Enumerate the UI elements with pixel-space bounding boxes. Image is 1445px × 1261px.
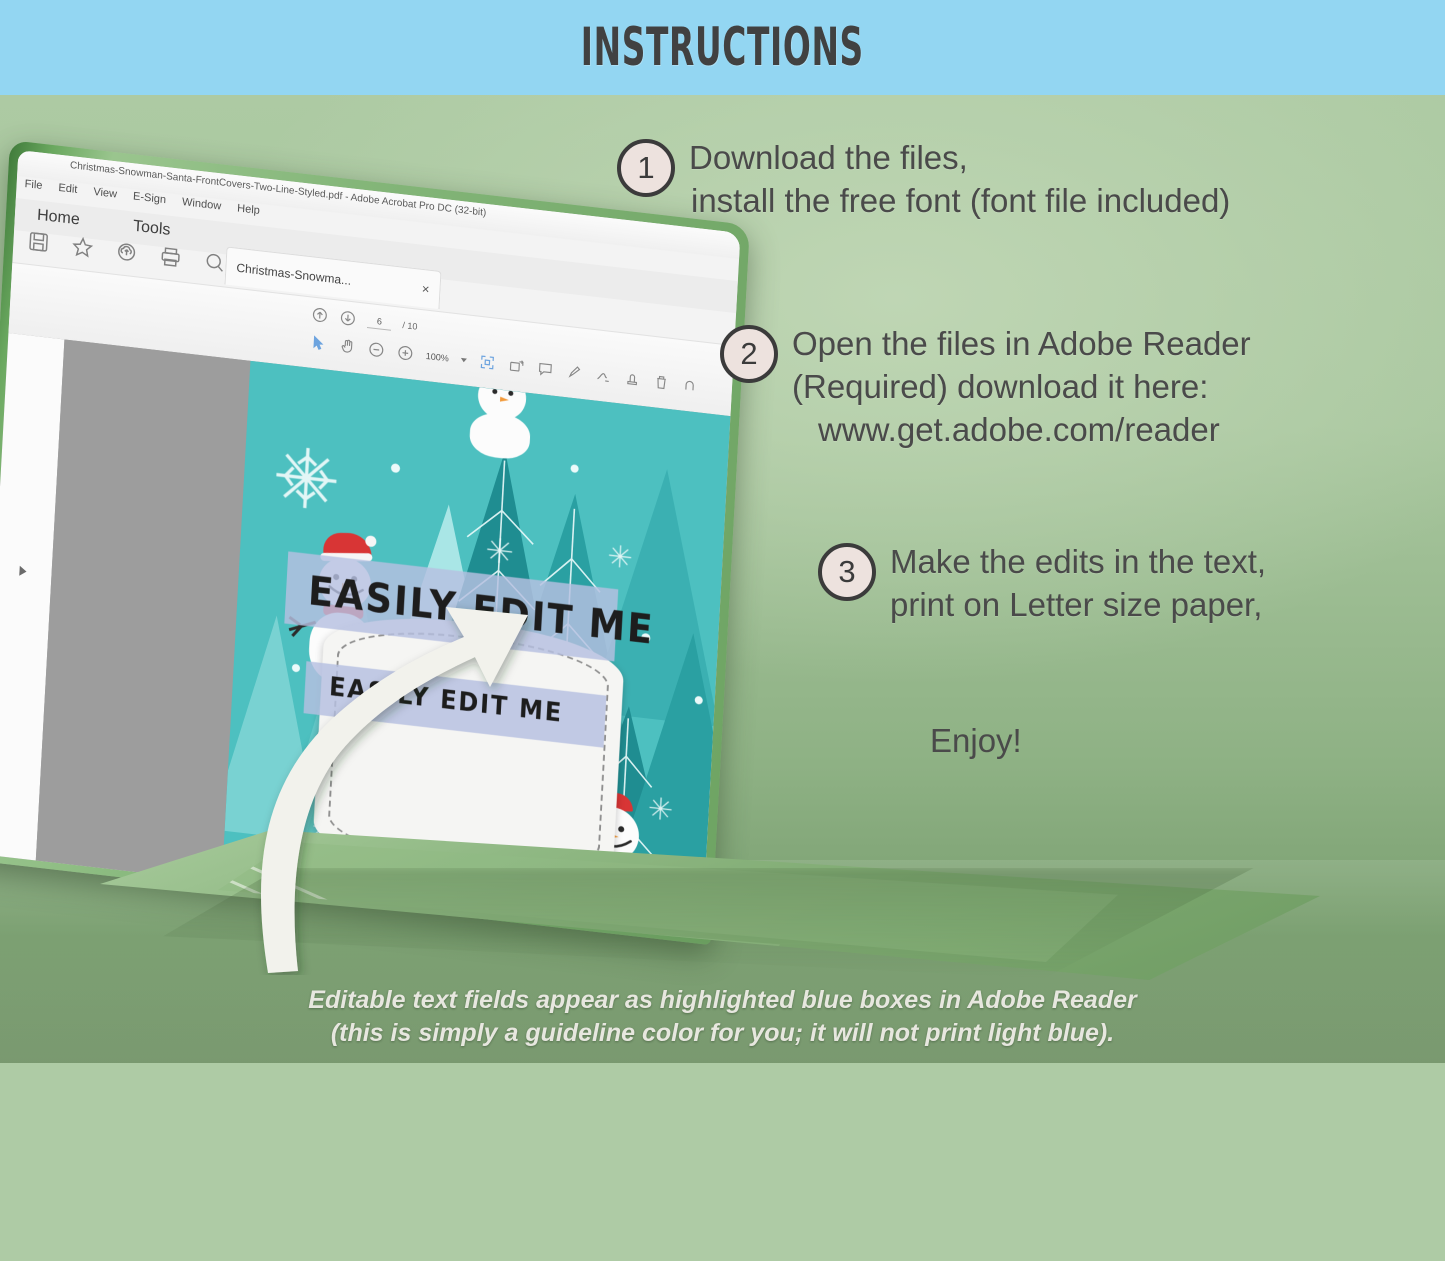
step-1-line-1: Download the files,	[689, 137, 1230, 180]
rotate-view-icon[interactable]	[507, 356, 525, 375]
page-navigation-group: 6 / 10	[311, 306, 418, 335]
header-band: INSTRUCTIONS	[0, 0, 1445, 95]
step-number-badge: 3	[818, 543, 876, 601]
step-3-line-2: print on Letter size paper,	[890, 584, 1266, 627]
step-2-line-2: (Required) download it here:	[792, 366, 1251, 409]
menu-item-help[interactable]: Help	[237, 202, 260, 217]
zoom-level-label[interactable]: 100%	[426, 350, 450, 363]
menu-item-file[interactable]: File	[24, 178, 42, 192]
chevron-down-icon[interactable]	[461, 357, 467, 362]
laptop-screen: Christmas-Snowman-Santa-FrontCovers-Two-…	[0, 150, 741, 937]
step-3-line-1: Make the edits in the text,	[890, 541, 1266, 584]
instruction-step-1: 1 Download the files, install the free f…	[617, 137, 1230, 223]
comment-icon[interactable]	[536, 360, 554, 379]
step-number-badge: 1	[617, 139, 675, 197]
laptop-lid: Christmas-Snowman-Santa-FrontCovers-Two-…	[0, 140, 750, 945]
stamp-icon[interactable]	[623, 370, 641, 389]
expand-arrow-icon[interactable]	[19, 566, 27, 577]
tab-home[interactable]: Home	[37, 207, 81, 230]
instruction-step-3: 3 Make the edits in the text, print on L…	[818, 541, 1266, 627]
menu-item-esign[interactable]: E-Sign	[133, 190, 167, 206]
page-down-icon[interactable]	[339, 309, 357, 328]
page-total-label: / 10	[402, 320, 418, 332]
select-cursor-icon[interactable]	[309, 334, 327, 353]
tab-tools[interactable]: Tools	[133, 218, 171, 240]
page-number-input[interactable]: 6	[367, 313, 392, 331]
adobe-reader-url[interactable]: www.get.adobe.com/reader	[792, 409, 1251, 452]
step-text-block: Download the files, install the free fon…	[689, 137, 1230, 223]
hand-icon[interactable]	[338, 337, 356, 356]
step-text-block: Open the files in Adobe Reader (Required…	[792, 323, 1251, 452]
menu-item-edit[interactable]: Edit	[58, 182, 78, 196]
undo-icon[interactable]	[681, 376, 699, 395]
cloud-upload-icon[interactable]	[115, 240, 138, 265]
step-number-badge: 2	[720, 325, 778, 383]
highlight-icon[interactable]	[565, 363, 583, 382]
caption-line-1: Editable text fields appear as highlight…	[0, 984, 1445, 1017]
save-icon[interactable]	[27, 230, 50, 255]
instruction-step-2: 2 Open the files in Adobe Reader (Requir…	[720, 323, 1251, 452]
step-text-block: Make the edits in the text, print on Let…	[890, 541, 1266, 627]
close-icon[interactable]: ×	[421, 281, 429, 297]
zoom-out-icon[interactable]	[367, 340, 385, 359]
page-up-icon[interactable]	[311, 306, 329, 325]
zoom-in-icon[interactable]	[396, 344, 414, 363]
page-title: INSTRUCTIONS	[581, 17, 864, 78]
step-1-line-2: install the free font (font file include…	[689, 180, 1230, 223]
viewer-gray-backdrop	[36, 339, 251, 881]
caption-line-2: (this is simply a guideline color for yo…	[0, 1017, 1445, 1050]
trash-icon[interactable]	[652, 373, 670, 392]
search-icon[interactable]	[203, 250, 226, 275]
menu-item-view[interactable]: View	[93, 186, 117, 201]
step-2-line-1: Open the files in Adobe Reader	[792, 323, 1251, 366]
enjoy-text: Enjoy!	[930, 722, 1022, 760]
star-icon[interactable]	[71, 235, 94, 260]
bottom-caption: Editable text fields appear as highlight…	[0, 984, 1445, 1049]
document-tab-label: Christmas-Snowma...	[236, 260, 351, 287]
print-icon[interactable]	[159, 245, 182, 270]
fit-page-icon[interactable]	[478, 353, 496, 372]
sign-icon[interactable]	[594, 366, 612, 385]
